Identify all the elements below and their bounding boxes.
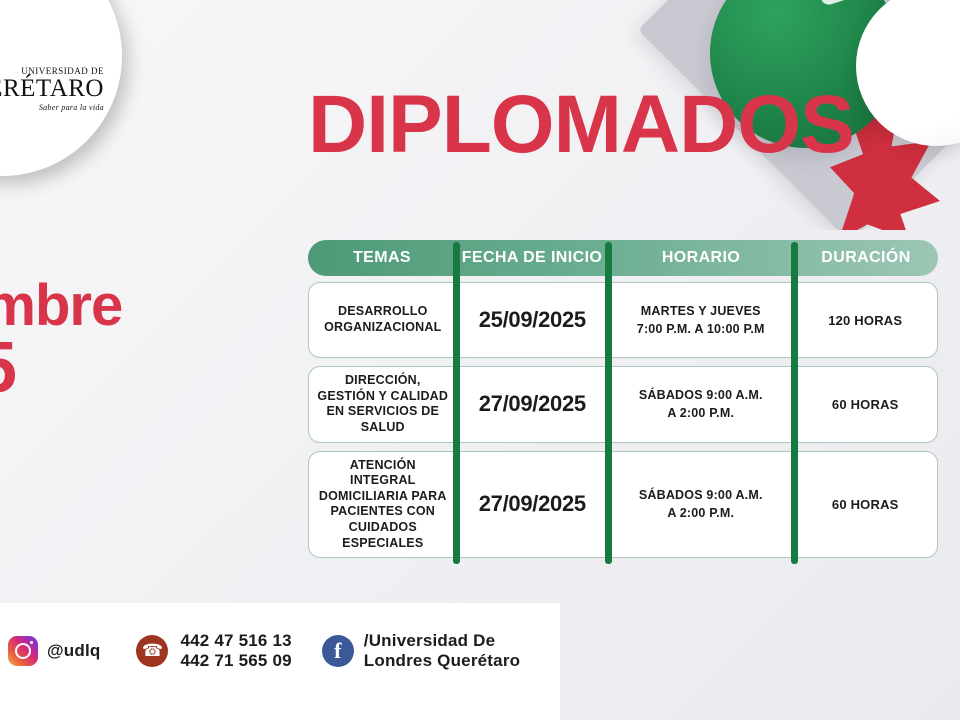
university-logo-badge: UNIVERSIDAD DE QUERÉTARO Saber para la v…: [0, 0, 122, 176]
cell-fecha: 27/09/2025: [457, 367, 609, 442]
facebook-line-1: /Universidad De: [364, 631, 520, 651]
duracion-text: 60 HORAS: [832, 497, 899, 512]
instagram-lens: [15, 643, 31, 659]
instagram-dot: [30, 641, 33, 644]
cell-horario: SÁBADOS 9:00 A.M.A 2:00 P.M.: [608, 367, 793, 442]
cell-tema: DIRECCIÓN, GESTIÓN Y CALIDAD EN SERVICIO…: [309, 367, 457, 442]
cell-duracion: 60 HORAS: [793, 367, 937, 442]
facebook-line-2: Londres Querétaro: [364, 651, 520, 671]
horario-line-1: SÁBADOS 9:00 A.M.: [639, 486, 763, 504]
logo-line-2: QUERÉTARO: [0, 76, 104, 101]
column-header-fecha: FECHA DE INICIO: [456, 249, 608, 267]
fecha-text: 27/09/2025: [479, 391, 586, 417]
phone-number-1: 442 47 516 13: [180, 631, 291, 651]
facebook-page-name: /Universidad De Londres Querétaro: [364, 631, 520, 670]
horario-text: SÁBADOS 9:00 A.M.A 2:00 P.M.: [639, 386, 763, 422]
table-row: DESARROLLO ORGANIZACIONAL 25/09/2025 MAR…: [308, 282, 938, 358]
tema-text: DIRECCIÓN, GESTIÓN Y CALIDAD EN SERVICIO…: [317, 373, 449, 436]
column-header-horario: HORARIO: [608, 249, 794, 267]
instagram-contact[interactable]: @udlq: [0, 636, 100, 666]
contact-bar: @udlq ☎ 442 47 516 13 442 71 565 09 f /U…: [0, 628, 560, 674]
horario-text: SÁBADOS 9:00 A.M.A 2:00 P.M.: [639, 486, 763, 522]
cell-duracion: 120 HORAS: [793, 283, 937, 357]
table-row: ATENCIÓN INTEGRAL DOMICILIARIA PARA PACI…: [308, 451, 938, 559]
fecha-text: 27/09/2025: [479, 491, 586, 517]
instagram-handle: @udlq: [47, 641, 100, 661]
horario-line-2: A 2:00 P.M.: [639, 504, 763, 522]
phone-icon: ☎: [136, 635, 168, 667]
column-header-temas: TEMAS: [308, 249, 456, 267]
month-text: iembre: [0, 273, 122, 338]
facebook-contact[interactable]: f /Universidad De Londres Querétaro: [292, 631, 520, 670]
table-body: DESARROLLO ORGANIZACIONAL 25/09/2025 MAR…: [308, 282, 938, 558]
cell-horario: SÁBADOS 9:00 A.M.A 2:00 P.M.: [608, 452, 793, 558]
phone-numbers: 442 47 516 13 442 71 565 09: [180, 631, 291, 670]
tema-text: ATENCIÓN INTEGRAL DOMICILIARIA PARA PACI…: [317, 458, 449, 552]
horario-line-1: SÁBADOS 9:00 A.M.: [639, 386, 763, 404]
column-header-duracion: DURACIÓN: [794, 249, 938, 267]
table-header-row: TEMAS FECHA DE INICIO HORARIO DURACIÓN: [308, 240, 938, 276]
phone-contact[interactable]: ☎ 442 47 516 13 442 71 565 09: [100, 631, 291, 670]
year-text: 25: [0, 334, 122, 403]
cell-fecha: 25/09/2025: [457, 283, 609, 357]
fecha-text: 25/09/2025: [479, 307, 586, 333]
cell-horario: MARTES Y JUEVES7:00 P.M. A 10:00 P.M: [608, 283, 793, 357]
logo-tagline: Saber para la vida: [0, 104, 104, 112]
table-row: DIRECCIÓN, GESTIÓN Y CALIDAD EN SERVICIO…: [308, 366, 938, 443]
duracion-text: 60 HORAS: [832, 397, 899, 412]
phone-number-2: 442 71 565 09: [180, 651, 291, 671]
programs-table: TEMAS FECHA DE INICIO HORARIO DURACIÓN D…: [308, 240, 938, 566]
horario-line-2: A 2:00 P.M.: [639, 404, 763, 422]
logo-text-block: UNIVERSIDAD DE QUERÉTARO Saber para la v…: [0, 67, 104, 112]
month-year-label: iembre 25: [0, 278, 122, 403]
cell-tema: DESARROLLO ORGANIZACIONAL: [309, 283, 457, 357]
page-title: DIPLOMADOS: [308, 84, 908, 166]
balloon-highlight: [819, 0, 868, 7]
horario-line-1: MARTES Y JUEVES: [637, 302, 765, 320]
instagram-icon: [8, 636, 38, 666]
cell-tema: ATENCIÓN INTEGRAL DOMICILIARIA PARA PACI…: [309, 452, 457, 558]
duracion-text: 120 HORAS: [828, 313, 902, 328]
tema-text: DESARROLLO ORGANIZACIONAL: [317, 304, 449, 335]
facebook-icon: f: [322, 635, 354, 667]
cell-duracion: 60 HORAS: [793, 452, 937, 558]
horario-line-2: 7:00 P.M. A 10:00 P.M: [637, 320, 765, 338]
horario-text: MARTES Y JUEVES7:00 P.M. A 10:00 P.M: [637, 302, 765, 338]
cell-fecha: 27/09/2025: [457, 452, 609, 558]
